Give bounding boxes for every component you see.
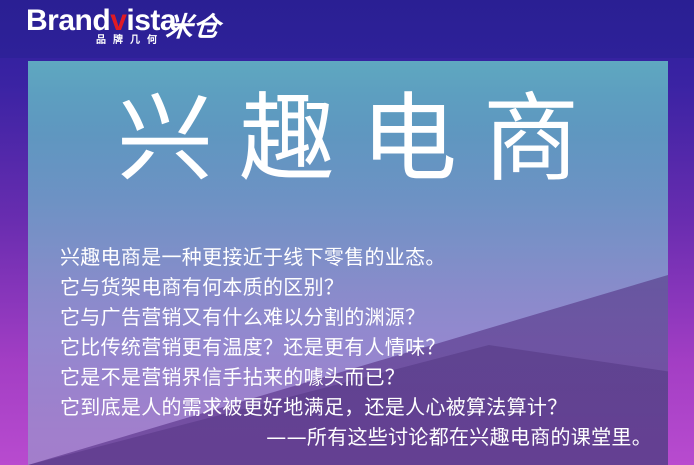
body-line: 它到底是人的需求被更好地满足，还是人心被算法算计？ <box>60 392 660 422</box>
body-line: 它与广告营销又有什么难以分割的渊源？ <box>60 302 660 332</box>
body-text-block: 兴趣电商是一种更接近于线下零售的业态。 它与货架电商有何本质的区别？ 它与广告营… <box>60 242 660 452</box>
content-panel: 兴趣电商 兴趣电商是一种更接近于线下零售的业态。 它与货架电商有何本质的区别？ … <box>28 61 668 465</box>
slide-title: 兴趣电商 <box>28 88 668 192</box>
brand-seal-mark: 米仓 <box>165 5 222 44</box>
header-bar: Brandvista 品牌几何 米仓 <box>0 0 694 58</box>
body-line: 它比传统营销更有温度？还是更有人情味？ <box>60 332 660 362</box>
presentation-slide: Brandvista 品牌几何 米仓 兴趣电商 兴趣电商是一种更接近于线下零售的… <box>0 0 694 465</box>
body-line: 它是不是营销界信手拈来的噱头而已？ <box>60 362 660 392</box>
body-line: 兴趣电商是一种更接近于线下零售的业态。 <box>60 242 660 272</box>
body-line: 它与货架电商有何本质的区别？ <box>60 272 660 302</box>
brand-subtitle: 品牌几何 <box>96 31 164 46</box>
attribution-line: ——所有这些讨论都在兴趣电商的课堂里。 <box>60 422 660 452</box>
